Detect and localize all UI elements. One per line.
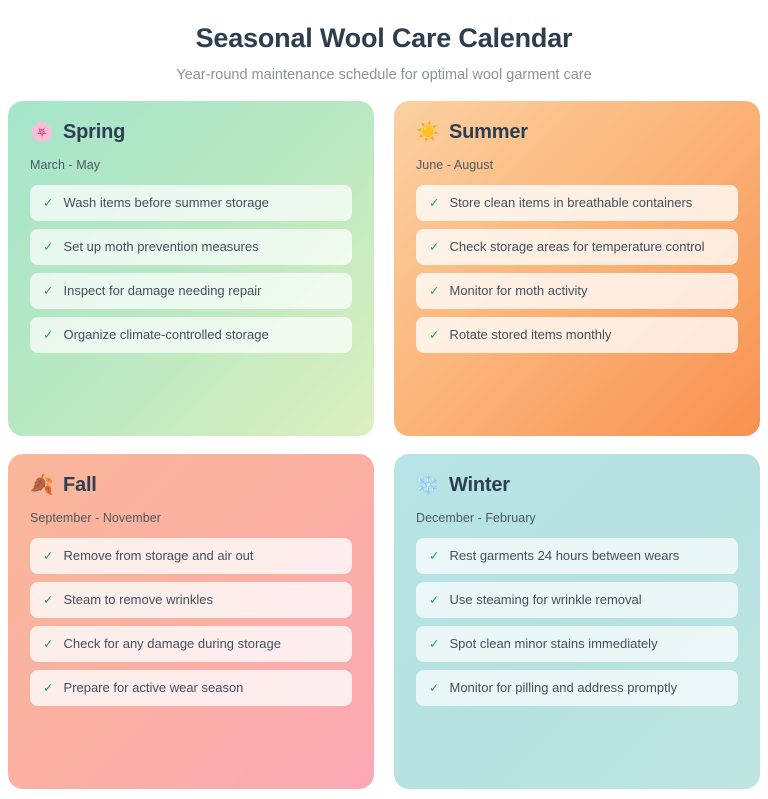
task-label: Rest garments 24 hours between wears — [449, 547, 725, 565]
page-header: Seasonal Wool Care Calendar Year-round m… — [8, 22, 760, 85]
task-label: Rotate stored items monthly — [449, 326, 725, 344]
season-card-winter[interactable]: ❄️ Winter December - February ✓ Rest gar… — [394, 454, 760, 789]
check-icon: ✓ — [43, 679, 53, 697]
season-months-spring: March - May — [30, 158, 352, 172]
check-icon: ✓ — [429, 194, 439, 212]
task-item[interactable]: ✓ Prepare for active wear season — [30, 670, 352, 706]
season-months-summer: June - August — [416, 158, 738, 172]
task-list-fall: ✓ Remove from storage and air out ✓ Stea… — [30, 538, 352, 706]
task-item[interactable]: ✓ Monitor for pilling and address prompt… — [416, 670, 738, 706]
season-months-fall: September - November — [30, 511, 352, 525]
task-item[interactable]: ✓ Inspect for damage needing repair — [30, 273, 352, 309]
check-icon: ✓ — [429, 238, 439, 256]
task-item[interactable]: ✓ Spot clean minor stains immediately — [416, 626, 738, 662]
check-icon: ✓ — [429, 635, 439, 653]
check-icon: ✓ — [43, 635, 53, 653]
check-icon: ✓ — [429, 547, 439, 565]
season-card-spring[interactable]: 🌸 Spring March - May ✓ Wash items before… — [8, 101, 374, 436]
season-card-fall[interactable]: 🍂 Fall September - November ✓ Remove fro… — [8, 454, 374, 789]
task-item[interactable]: ✓ Remove from storage and air out — [30, 538, 352, 574]
check-icon: ✓ — [429, 282, 439, 300]
task-label: Use steaming for wrinkle removal — [449, 591, 725, 609]
season-header-fall: 🍂 Fall — [30, 474, 352, 497]
task-item[interactable]: ✓ Monitor for moth activity — [416, 273, 738, 309]
season-title-spring: Spring — [63, 121, 125, 144]
season-title-fall: Fall — [63, 474, 97, 497]
task-label: Spot clean minor stains immediately — [449, 635, 725, 653]
cherry-blossom-icon: 🌸 — [30, 123, 52, 142]
task-label: Check storage areas for temperature cont… — [449, 238, 725, 256]
check-icon: ✓ — [43, 591, 53, 609]
season-header-summer: ☀️ Summer — [416, 121, 738, 144]
season-title-winter: Winter — [449, 474, 510, 497]
sun-icon: ☀️ — [416, 123, 438, 142]
season-header-winter: ❄️ Winter — [416, 474, 738, 497]
check-icon: ✓ — [429, 326, 439, 344]
task-label: Check for any damage during storage — [63, 635, 339, 653]
task-item[interactable]: ✓ Wash items before summer storage — [30, 185, 352, 221]
task-label: Steam to remove wrinkles — [63, 591, 339, 609]
snowflake-icon: ❄️ — [416, 476, 438, 495]
task-label: Monitor for moth activity — [449, 282, 725, 300]
task-item[interactable]: ✓ Organize climate-controlled storage — [30, 317, 352, 353]
task-label: Remove from storage and air out — [63, 547, 339, 565]
task-list-summer: ✓ Store clean items in breathable contai… — [416, 185, 738, 353]
check-icon: ✓ — [429, 591, 439, 609]
season-months-winter: December - February — [416, 511, 738, 525]
task-item[interactable]: ✓ Store clean items in breathable contai… — [416, 185, 738, 221]
task-label: Store clean items in breathable containe… — [449, 194, 725, 212]
fallen-leaf-icon: 🍂 — [30, 476, 52, 495]
season-card-summer[interactable]: ☀️ Summer June - August ✓ Store clean it… — [394, 101, 760, 436]
check-icon: ✓ — [43, 194, 53, 212]
check-icon: ✓ — [429, 679, 439, 697]
task-label: Inspect for damage needing repair — [63, 282, 339, 300]
check-icon: ✓ — [43, 326, 53, 344]
task-label: Set up moth prevention measures — [63, 238, 339, 256]
seasonal-calendar-page: Seasonal Wool Care Calendar Year-round m… — [0, 0, 768, 799]
season-grid: 🌸 Spring March - May ✓ Wash items before… — [8, 101, 760, 789]
season-title-summer: Summer — [449, 121, 528, 144]
check-icon: ✓ — [43, 547, 53, 565]
task-list-spring: ✓ Wash items before summer storage ✓ Set… — [30, 185, 352, 353]
check-icon: ✓ — [43, 238, 53, 256]
page-subtitle: Year-round maintenance schedule for opti… — [8, 66, 760, 85]
task-item[interactable]: ✓ Rest garments 24 hours between wears — [416, 538, 738, 574]
task-label: Organize climate-controlled storage — [63, 326, 339, 344]
task-item[interactable]: ✓ Set up moth prevention measures — [30, 229, 352, 265]
check-icon: ✓ — [43, 282, 53, 300]
page-title: Seasonal Wool Care Calendar — [8, 22, 760, 56]
task-item[interactable]: ✓ Check for any damage during storage — [30, 626, 352, 662]
season-header-spring: 🌸 Spring — [30, 121, 352, 144]
task-item[interactable]: ✓ Check storage areas for temperature co… — [416, 229, 738, 265]
task-label: Monitor for pilling and address promptly — [449, 679, 725, 697]
task-list-winter: ✓ Rest garments 24 hours between wears ✓… — [416, 538, 738, 706]
task-label: Prepare for active wear season — [63, 679, 339, 697]
task-item[interactable]: ✓ Rotate stored items monthly — [416, 317, 738, 353]
task-item[interactable]: ✓ Steam to remove wrinkles — [30, 582, 352, 618]
task-item[interactable]: ✓ Use steaming for wrinkle removal — [416, 582, 738, 618]
task-label: Wash items before summer storage — [63, 194, 339, 212]
